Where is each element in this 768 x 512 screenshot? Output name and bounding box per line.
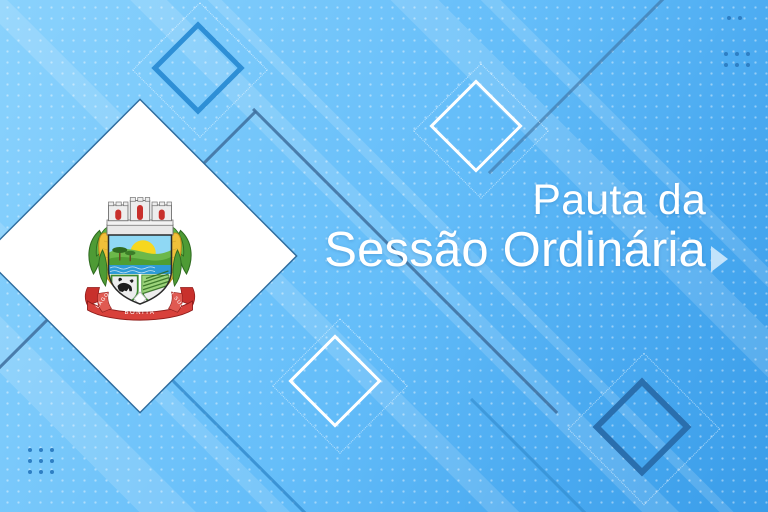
banner: LAGOA BONITA DO SUL Pauta da Sessão Ordi… [0,0,768,512]
mural-crown-icon [107,198,173,236]
coat-of-arms: LAGOA BONITA DO SUL [30,146,250,366]
play-arrow-icon [711,246,728,272]
dot-cluster-top-right-small [727,16,742,20]
page-title: Pauta da Sessão Ordinária [324,178,706,278]
coat-of-arms-icon: LAGOA BONITA DO SUL [65,181,215,331]
title-line-1: Pauta da [324,178,706,223]
dot-cluster-top-right [724,52,750,67]
ribbon-text-center: BONITA [125,310,156,316]
shield-scene [109,235,172,306]
dot-cluster-bottom-left [28,448,54,474]
title-line-2: Sessão Ordinária [324,223,706,278]
